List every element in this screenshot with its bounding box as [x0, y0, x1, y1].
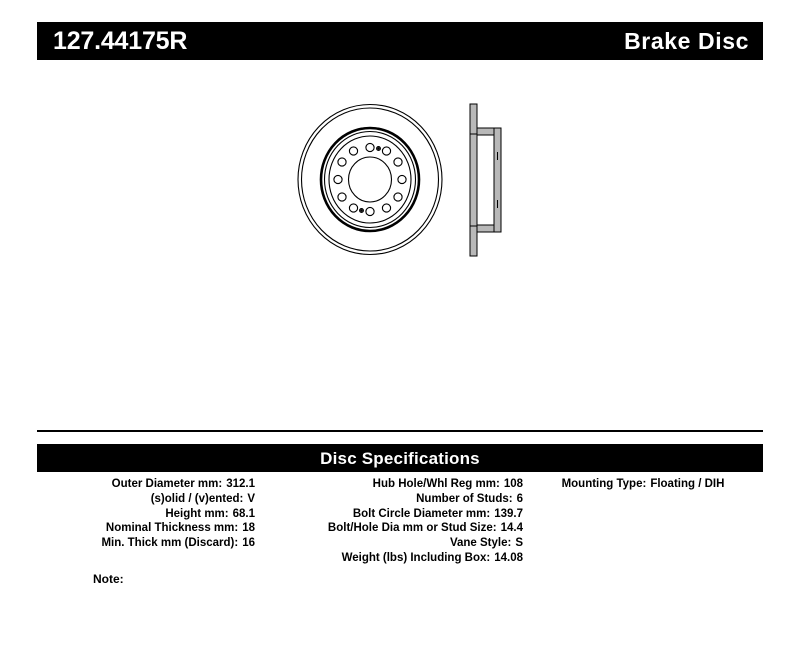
spec-value: 312.1: [222, 477, 255, 492]
spec-row: Vane Style: S: [255, 536, 523, 551]
spec-row: Outer Diameter mm: 312.1: [37, 477, 255, 492]
spec-label: Height mm:: [165, 507, 228, 522]
spec-label: Weight (lbs) Including Box:: [342, 551, 491, 566]
spec-value: Floating / DIH: [646, 477, 724, 492]
spec-title: Disc Specifications: [320, 450, 480, 467]
note-value: [124, 569, 130, 583]
spec-column-middle: Hub Hole/Whl Reg mm: 108 Number of Studs…: [255, 477, 523, 566]
spec-label: Hub Hole/Whl Reg mm:: [373, 477, 500, 492]
spec-column-right: Mounting Type: Floating / DIH: [523, 477, 763, 492]
spec-value: 139.7: [490, 507, 523, 522]
spec-row: Mounting Type: Floating / DIH: [523, 477, 763, 492]
brake-rotor-face-view: [295, 102, 445, 257]
spec-label: Nominal Thickness mm:: [106, 521, 238, 536]
note-block: Note:: [37, 569, 763, 586]
product-type-label: Brake Disc: [624, 30, 749, 53]
spec-row: Weight (lbs) Including Box: 14.08: [255, 551, 523, 566]
spec-value: S: [511, 536, 523, 551]
header-bar: 127.44175R Brake Disc: [37, 22, 763, 60]
spec-row: Nominal Thickness mm: 18: [37, 521, 255, 536]
section-divider: [37, 430, 763, 432]
spec-value: 14.08: [490, 551, 523, 566]
spec-label: Bolt Circle Diameter mm:: [353, 507, 490, 522]
spec-title-bar: Disc Specifications: [37, 444, 763, 472]
spec-label: Outer Diameter mm:: [112, 477, 223, 492]
brake-rotor-cross-section-view: [461, 100, 513, 260]
spec-row: Hub Hole/Whl Reg mm: 108: [255, 477, 523, 492]
spec-value: 6: [513, 492, 523, 507]
spec-value: 68.1: [229, 507, 255, 522]
spec-row: Min. Thick mm (Discard): 16: [37, 536, 255, 551]
spec-column-left: Outer Diameter mm: 312.1 (s)olid / (v)en…: [37, 477, 255, 551]
spec-label: (s)olid / (v)ented:: [151, 492, 244, 507]
part-number: 127.44175R: [53, 29, 187, 54]
spec-row: Bolt Circle Diameter mm: 139.7: [255, 507, 523, 522]
note-label: Note:: [37, 572, 124, 586]
spec-label: Mounting Type:: [562, 477, 647, 492]
spec-label: Vane Style:: [450, 536, 511, 551]
spec-row: Number of Studs: 6: [255, 492, 523, 507]
spec-value: 18: [238, 521, 255, 536]
spec-row: Height mm: 68.1: [37, 507, 255, 522]
spec-label: Min. Thick mm (Discard):: [101, 536, 238, 551]
spec-value: 16: [238, 536, 255, 551]
spec-row: (s)olid / (v)ented: V: [37, 492, 255, 507]
spec-label: Number of Studs:: [416, 492, 512, 507]
spec-value: 14.4: [497, 521, 523, 536]
spec-value: 108: [500, 477, 523, 492]
spec-row: Bolt/Hole Dia mm or Stud Size: 14.4: [255, 521, 523, 536]
spec-label: Bolt/Hole Dia mm or Stud Size:: [328, 521, 497, 536]
product-drawing-area: [37, 70, 763, 425]
spec-value: V: [243, 492, 255, 507]
